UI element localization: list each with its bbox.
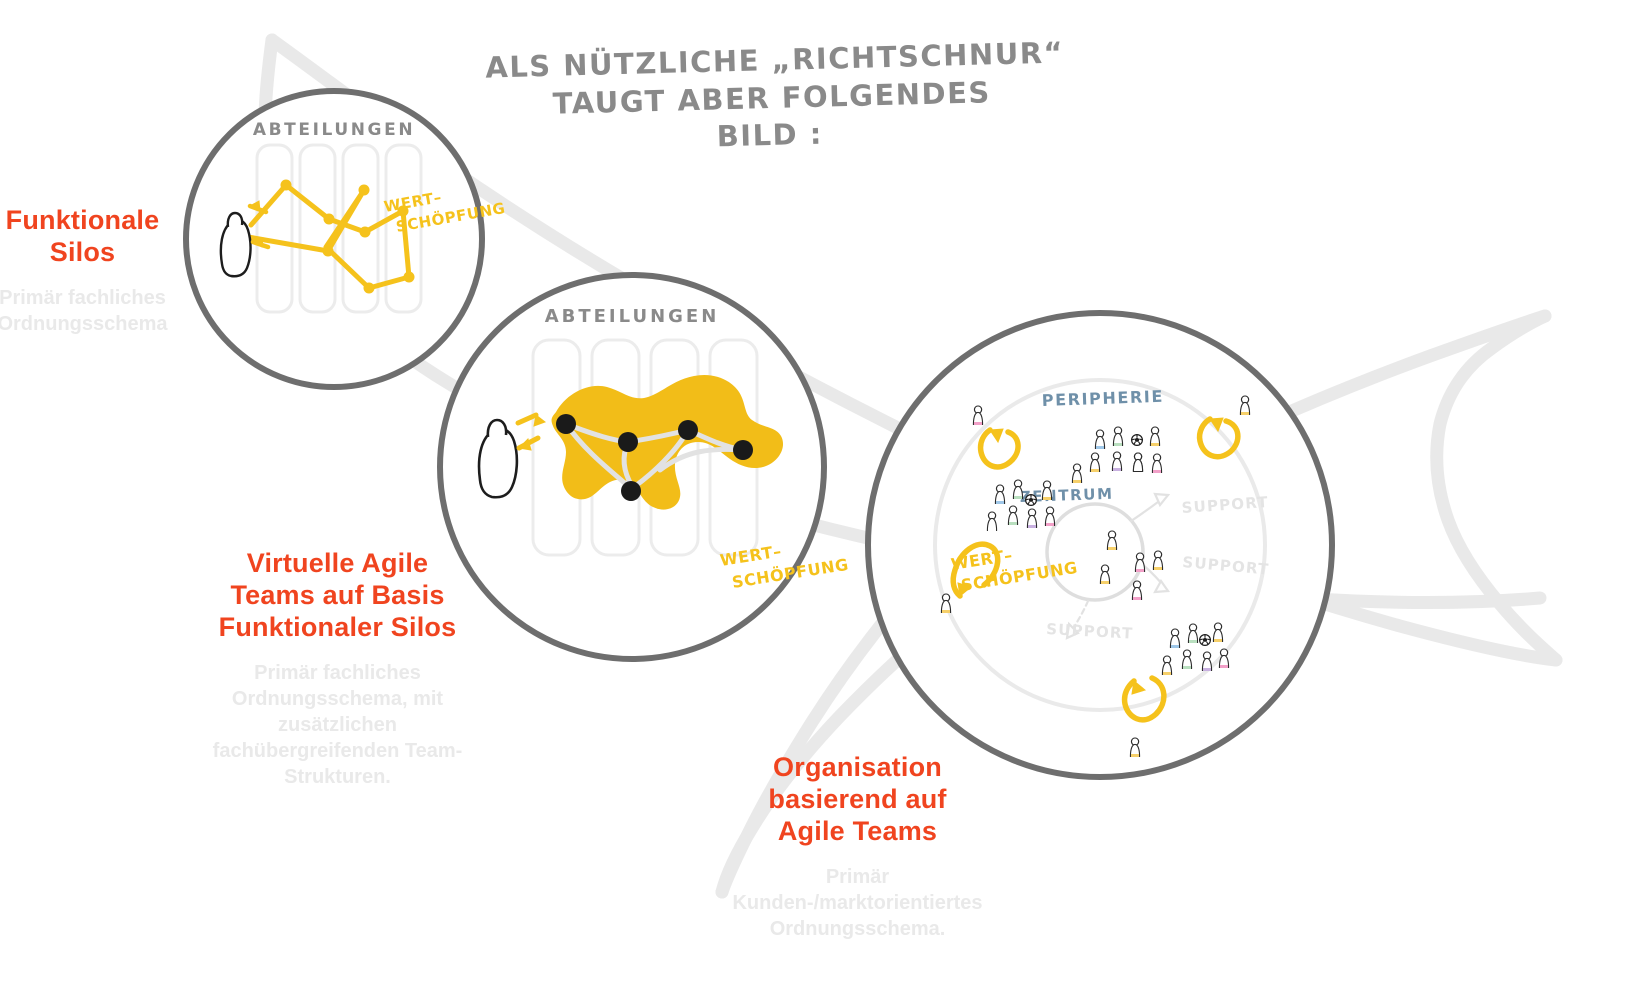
silos-sub-line-2: Ordnungsschema	[0, 313, 168, 335]
agile-title-line-3: Agile Teams	[778, 816, 937, 846]
headline-line-2: TAUGT ABER FOLGENDES	[552, 75, 991, 120]
virtual-sub-line-1: Primär fachliches	[254, 662, 421, 684]
circle-2-heading: ABTEILUNGEN	[545, 306, 720, 327]
virtual-sub-line-2: Ordnungsschema, mit	[232, 688, 443, 710]
team-node	[618, 432, 638, 452]
virtual-title-line-3: Funktionaler Silos	[219, 612, 457, 642]
virtual-title-line-1: Virtuelle Agile	[247, 548, 429, 578]
virtual-sub-line-5: Strukturen.	[284, 766, 391, 788]
label-functional-silos: Funktionale Silos Primär fachliches Ordn…	[0, 205, 175, 337]
team-node	[733, 440, 753, 460]
circle-1-heading: ABTEILUNGEN	[253, 120, 415, 140]
agile-title-line-1: Organisation	[773, 752, 942, 782]
circle-agile-organisation[interactable]: SUPPORT SUPPORT SUPPORT PERIPHERIE ZENTR…	[868, 313, 1332, 777]
team-node	[556, 414, 576, 434]
circle-functional-silos[interactable]: ABTEILUNGEN WERT– SCHÖPFUNG	[186, 91, 507, 387]
headline: ALS NÜTZLICHE „RICHTSCHNUR“ TAUGT ABER F…	[485, 35, 1065, 153]
circle-virtual-agile-teams[interactable]: ABTEILUNGEN WERT– SCHÖPFUNG	[440, 275, 850, 659]
agile-title-line-2: basierend auf	[768, 784, 946, 814]
silos-sub-line-1: Primär fachliches	[0, 287, 166, 309]
silos-title-line-2: Silos	[50, 237, 116, 267]
label-virtual-agile-teams: Virtuelle Agile Teams auf Basis Funktion…	[175, 548, 500, 790]
circle-3-outline	[868, 313, 1332, 777]
team-node	[621, 481, 641, 501]
virtual-sub-line-4: fachübergreifenden Team-	[213, 740, 463, 762]
headline-line-3: BILD :	[716, 117, 823, 154]
team-node	[678, 420, 698, 440]
agile-sub-line-1: Primär	[826, 866, 889, 888]
silos-title-line-1: Funktionale	[6, 205, 160, 235]
virtual-sub-line-3: zusätzlichen	[278, 714, 397, 736]
agile-sub-line-3: Ordnungsschema.	[770, 918, 946, 940]
label-agile-organisation: Organisation basierend auf Agile Teams P…	[705, 752, 1010, 942]
agile-sub-line-2: Kunden-/marktorientiertes	[732, 892, 982, 914]
virtual-title-line-2: Teams auf Basis	[230, 580, 444, 610]
